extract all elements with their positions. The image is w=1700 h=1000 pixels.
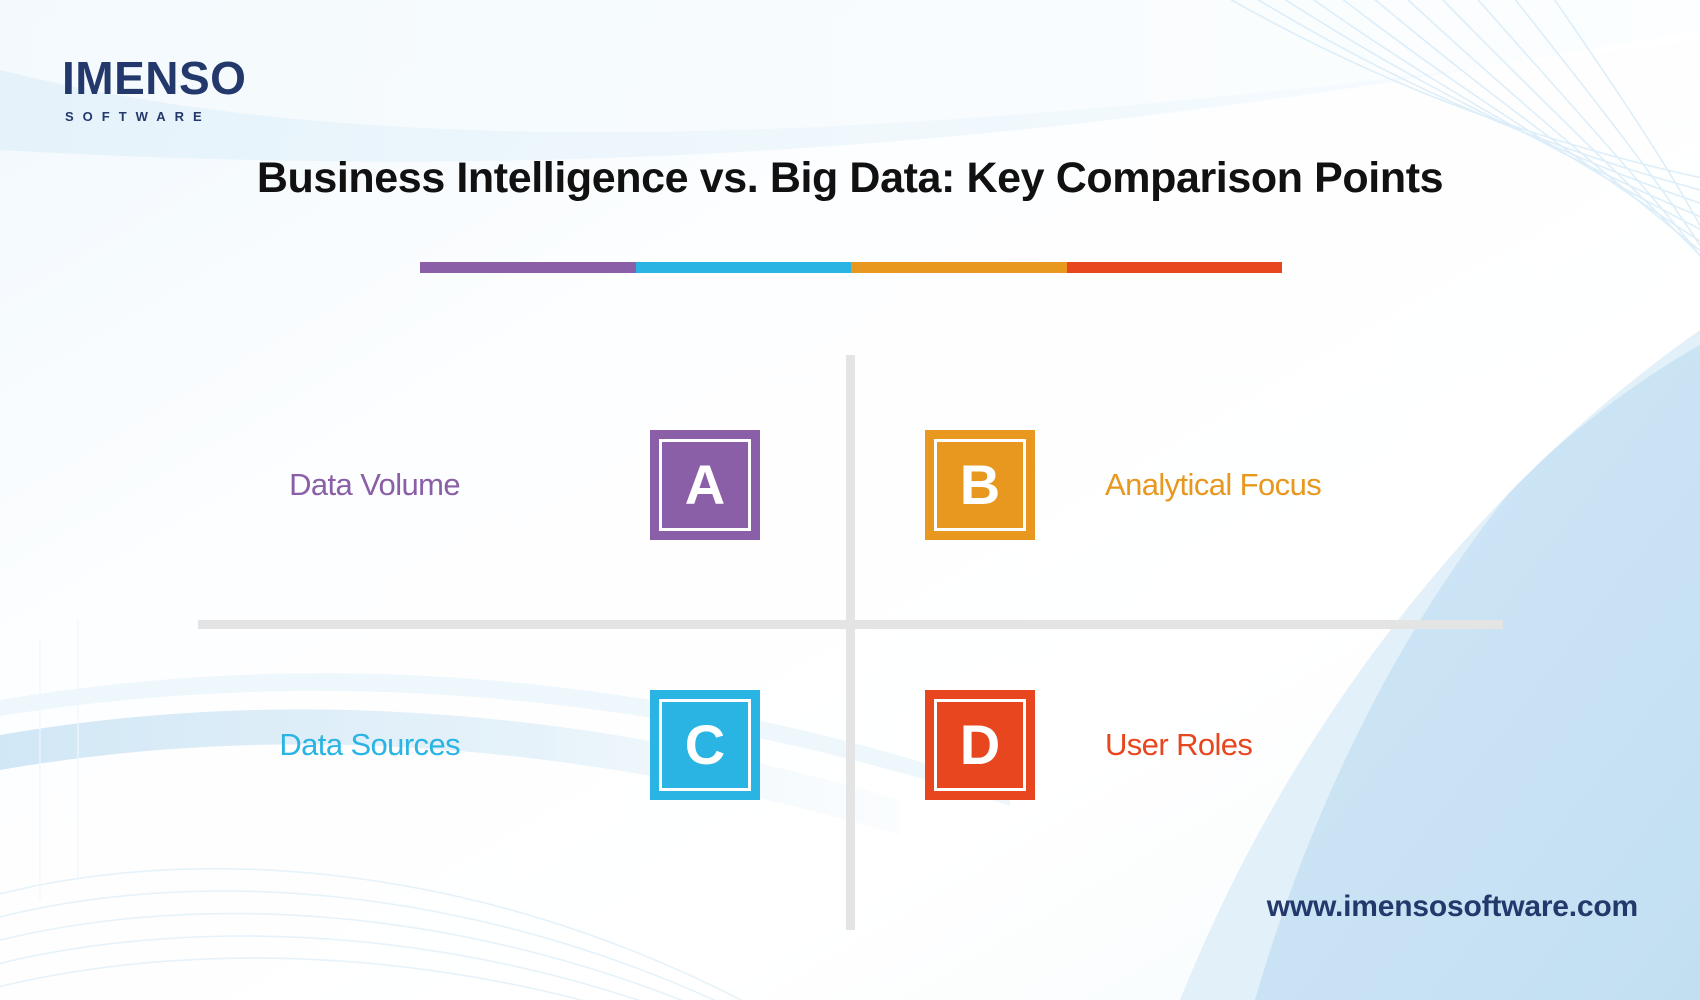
accent-segment-orange [851, 262, 1067, 273]
quadrant-label-a: Data Volume [289, 467, 460, 503]
quadrant-badge-letter-a: A [685, 457, 725, 513]
page-title-text: Business Intelligence vs. Big Data: Key … [257, 155, 1443, 202]
quadrant-badge-d[interactable]: D [925, 690, 1035, 800]
quadrant-item-a[interactable]: Data Volume A [180, 415, 760, 555]
quadrant-badge-letter-c: C [685, 717, 725, 773]
quadrant-badge-letter-b: B [960, 457, 1000, 513]
accent-segment-purple [420, 262, 636, 273]
quadrant-badge-c[interactable]: C [650, 690, 760, 800]
quadrant-badge-b[interactable]: B [925, 430, 1035, 540]
brand-logo: IMENSO SOFTWARE [62, 55, 362, 123]
logo-tagline: SOFTWARE [65, 110, 362, 123]
page-title: Business Intelligence vs. Big Data: Key … [0, 155, 1700, 202]
quadrant-divider-horizontal [198, 620, 1503, 629]
footer-website-url[interactable]: www.imensosoftware.com [1267, 890, 1638, 924]
logo-wordmark: IMENSO [62, 55, 362, 101]
slide-canvas: IMENSO SOFTWARE Business Intelligence vs… [0, 0, 1700, 1000]
quadrant-label-c: Data Sources [279, 727, 460, 763]
quadrant-item-d[interactable]: D User Roles [925, 675, 1525, 815]
accent-segment-cyan [636, 262, 852, 273]
quadrant-divider-vertical [846, 355, 855, 930]
accent-bar [420, 262, 1282, 273]
quadrant-label-d: User Roles [1105, 727, 1252, 763]
quadrant-item-b[interactable]: B Analytical Focus [925, 415, 1525, 555]
quadrant-badge-a[interactable]: A [650, 430, 760, 540]
quadrant-item-c[interactable]: Data Sources C [180, 675, 760, 815]
accent-segment-red [1067, 262, 1283, 273]
quadrant-badge-letter-d: D [960, 717, 1000, 773]
quadrant-label-b: Analytical Focus [1105, 467, 1321, 503]
